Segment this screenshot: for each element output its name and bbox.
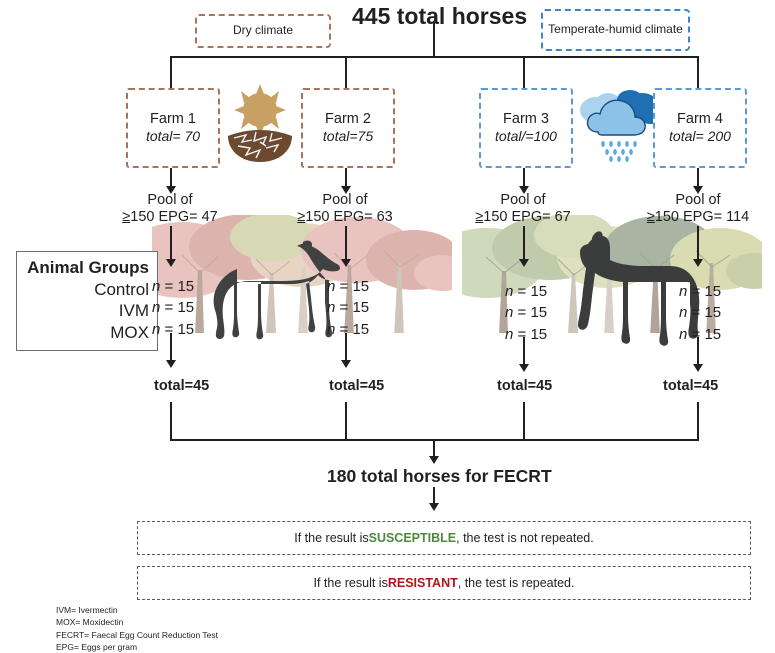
arrowhead-pool2-groups (341, 259, 351, 267)
n-value-f1-control: nn = 15 = 15 (152, 276, 194, 297)
farm-name-2: Farm 2 (325, 110, 371, 128)
connector-drop-farm4 (697, 56, 699, 88)
n-column-farm1: nn = 15 = 15 n = 15 n = 15 (152, 276, 194, 340)
pool-label-2-line2: ≥150 EPG= 63 (285, 209, 405, 226)
farm-total-2: total=75 (323, 128, 373, 146)
farm1-total-bottom: total=45 (154, 378, 209, 394)
legend-item-ivm: IVM= Ivermectin (56, 604, 218, 616)
connector-total3-merge (523, 402, 525, 441)
page-title: 445 total horses (352, 3, 527, 30)
arrowhead-groups3-total (519, 364, 529, 372)
animal-group-ivm: IVM (119, 300, 149, 322)
result-susceptible-prefix: If the result is (294, 531, 368, 545)
n-column-farm2: n = 15 n = 15 n = 15 (327, 276, 369, 340)
n-value-f3-control: n = 15 (505, 281, 547, 302)
result-resistant-keyword: RESISTANT (388, 576, 458, 590)
climate-label-dry-text: Dry climate (233, 24, 293, 38)
pool-label-3: Pool of ≥150 EPG= 67 (463, 192, 583, 227)
farm-name-4: Farm 4 (677, 110, 723, 128)
pool-label-4-line1: Pool of (635, 192, 761, 209)
connector-top-bar (170, 56, 698, 58)
pool-label-1: Pool of ≥150 EPG= 47 (110, 192, 230, 227)
connector-pool2-groups (345, 226, 347, 262)
n-value-f4-control: n = 15 (679, 281, 721, 302)
connector-drop-farm1 (170, 56, 172, 88)
result-resistant-prefix: If the result is (313, 576, 387, 590)
farm2-total-bottom: total=45 (329, 378, 384, 394)
pool-label-3-line2: ≥150 EPG= 67 (463, 209, 583, 226)
arrowhead-pool4-groups (693, 259, 703, 267)
abbreviation-legend: IVM= Ivermectin MOX= Moxidectin FECRT= F… (56, 604, 218, 653)
farm-box-2[interactable]: Farm 2 total=75 (301, 88, 395, 168)
arrowhead-merge-stem (429, 456, 439, 464)
n-value-f3-mox: n = 15 (505, 324, 547, 345)
farm4-total-bottom: total=45 (663, 378, 718, 394)
animal-groups-header: Animal Groups (27, 258, 149, 278)
farm-total-4: total= 200 (669, 128, 731, 146)
connector-drop-farm2 (345, 56, 347, 88)
legend-item-epg: EPG= Eggs per gram (56, 641, 218, 653)
sun-icon (222, 82, 298, 164)
farm-box-4[interactable]: Farm 4 total= 200 (653, 88, 747, 168)
animal-groups-box: Animal Groups Control IVM MOX (16, 251, 158, 351)
n-value-f4-ivm: n = 15 (679, 302, 721, 323)
connector-total2-merge (345, 402, 347, 441)
n-column-farm3: n = 15 n = 15 n = 15 (505, 281, 547, 345)
arrowhead-fecrt-results (429, 503, 439, 511)
connector-drop-farm3 (523, 56, 525, 88)
pool-label-3-line1: Pool of (463, 192, 583, 209)
rain-cloud-icon (578, 88, 664, 166)
climate-label-dry[interactable]: Dry climate (195, 14, 331, 48)
farm-name-1: Farm 1 (150, 110, 196, 128)
connector-pool1-groups (170, 226, 172, 262)
n-value-f1-mox: n = 15 (152, 319, 194, 340)
n-value-f2-mox: n = 15 (327, 319, 369, 340)
connector-total4-merge (697, 402, 699, 441)
pool-label-2-line1: Pool of (285, 192, 405, 209)
arrowhead-groups4-total (693, 364, 703, 372)
farm-box-3[interactable]: Farm 3 total/=100 (479, 88, 573, 168)
animal-group-mox: MOX (110, 322, 149, 344)
farm-total-1: total= 70 (146, 128, 200, 146)
fecrt-total-title: 180 total horses for FECRT (327, 466, 552, 487)
n-value-f3-ivm: n = 15 (505, 302, 547, 323)
connector-pool4-groups (697, 226, 699, 262)
connector-total1-merge (170, 402, 172, 441)
farm-name-3: Farm 3 (503, 110, 549, 128)
result-box-resistant[interactable]: If the result is RESISTANT, the test is … (137, 566, 751, 600)
arrowhead-pool1-groups (166, 259, 176, 267)
result-susceptible-suffix: , the test is not repeated. (456, 531, 594, 545)
animal-group-control: Control (94, 279, 149, 301)
n-value-f1-ivm: n = 15 (152, 297, 194, 318)
farm-box-1[interactable]: Farm 1 total= 70 (126, 88, 220, 168)
pool-label-4: Pool of ≥150 EPG= 114 (635, 192, 761, 227)
legend-item-fecrt: FECRT= Faecal Egg Count Reduction Test (56, 629, 218, 641)
climate-label-humid[interactable]: Temperate-humid climate (541, 9, 690, 51)
pool-label-1-line1: Pool of (110, 192, 230, 209)
arrowhead-pool3-groups (519, 259, 529, 267)
pool-label-2: Pool of ≥150 EPG= 63 (285, 192, 405, 227)
result-resistant-suffix: , the test is repeated. (458, 576, 575, 590)
result-susceptible-keyword: SUSCEPTIBLE (369, 531, 457, 545)
n-column-farm4: n = 15 n = 15 n = 15 (679, 281, 721, 345)
arrowhead-groups2-total (341, 360, 351, 368)
connector-pool3-groups (523, 226, 525, 262)
climate-label-humid-text: Temperate-humid climate (548, 23, 683, 37)
n-value-f2-ivm: n = 15 (327, 297, 369, 318)
pool-label-4-line2: ≥150 EPG= 114 (635, 209, 761, 226)
pool-label-1-line2: ≥150 EPG= 47 (110, 209, 230, 226)
legend-item-mox: MOX= Moxidectin (56, 616, 218, 628)
n-value-f2-control: n = 15 (327, 276, 369, 297)
farm3-total-bottom: total=45 (497, 378, 552, 394)
arrowhead-groups1-total (166, 360, 176, 368)
farm-total-3: total/=100 (495, 128, 557, 146)
result-box-susceptible[interactable]: If the result is SUSCEPTIBLE, the test i… (137, 521, 751, 555)
n-value-f4-mox: n = 15 (679, 324, 721, 345)
